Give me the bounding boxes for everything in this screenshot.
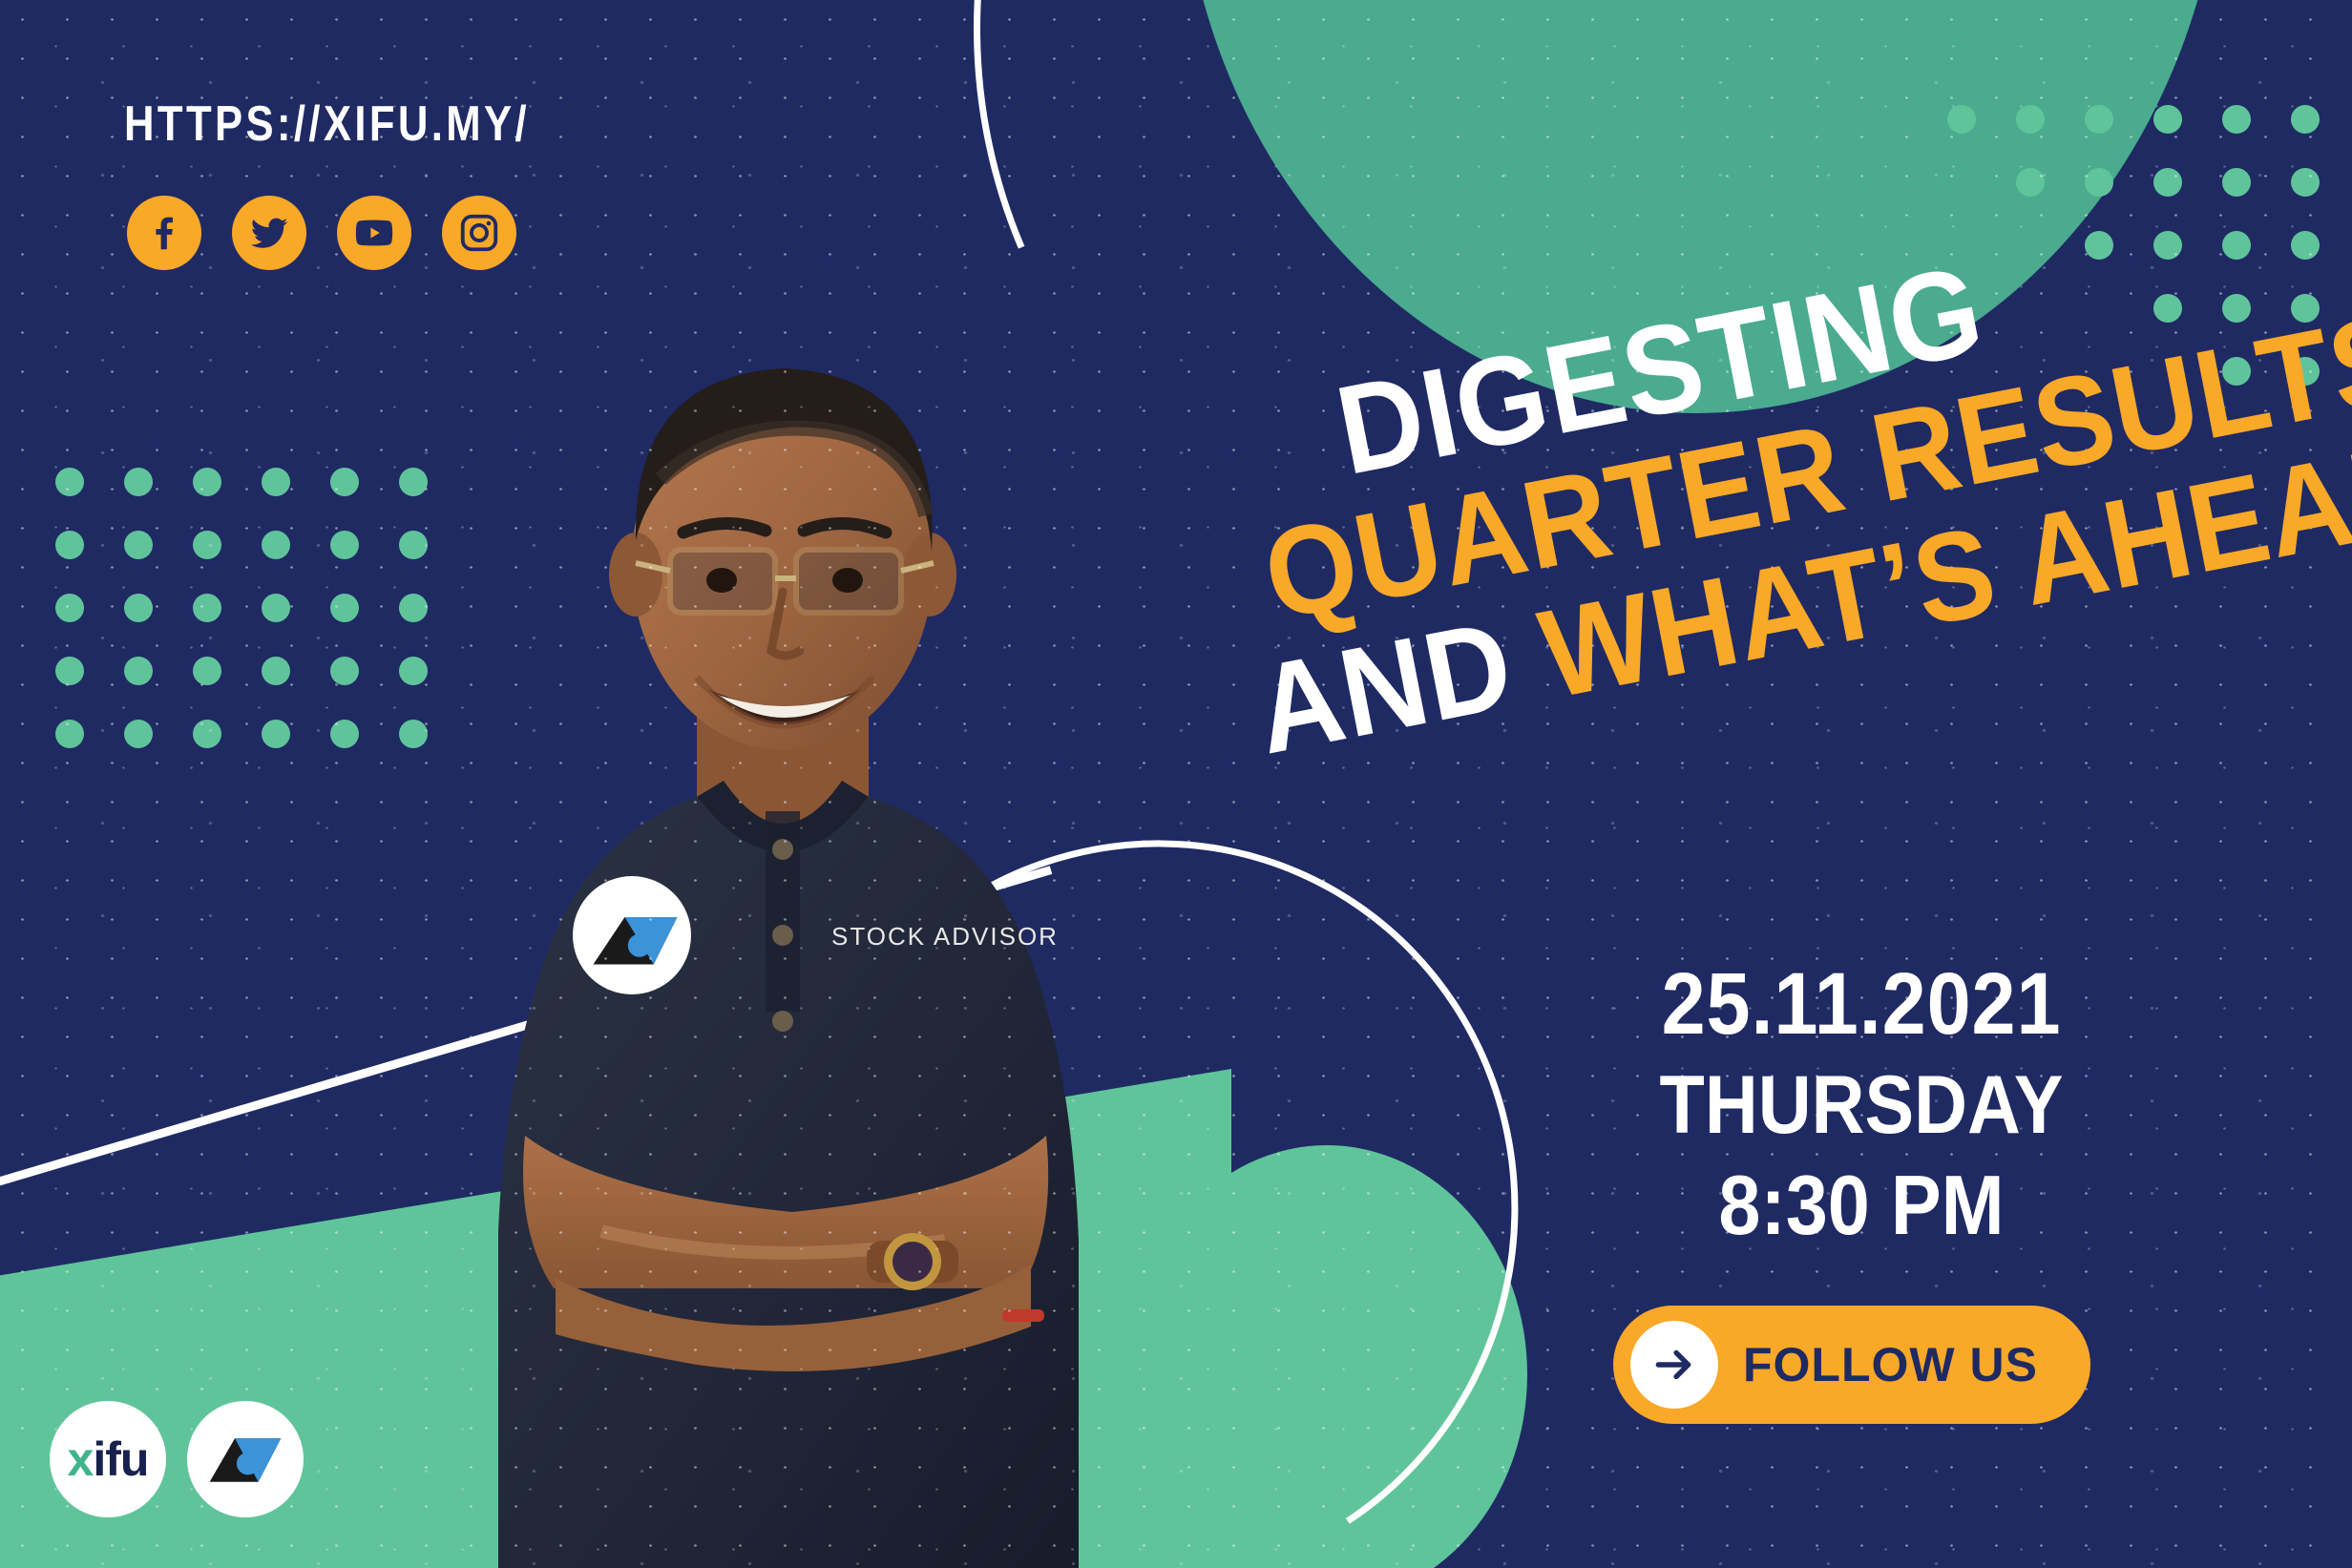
- decorative-dot: [124, 720, 153, 748]
- decorative-dot: [1947, 105, 1976, 134]
- event-date: 25.11.2021: [1647, 954, 2076, 1055]
- decorative-dot: [330, 720, 359, 748]
- decorative-dot: [124, 657, 153, 685]
- decorative-dot: [2291, 105, 2320, 134]
- decorative-dot: [2222, 105, 2251, 134]
- dot-grid-left: [55, 468, 468, 783]
- decorative-dot: [193, 468, 221, 496]
- decorative-dot: [262, 594, 290, 622]
- promo-banner: STOCK ADVISOR: [0, 0, 2352, 1568]
- decorative-dot: [55, 594, 84, 622]
- xifu-wordmark: xifu: [68, 1435, 149, 1483]
- event-datetime: 25.11.2021 Thursday 8:30 PM: [1623, 954, 2100, 1254]
- footer-logos: xifu: [50, 1401, 304, 1517]
- website-url[interactable]: HTTPS://XIFU.MY/: [124, 95, 530, 153]
- instagram-icon[interactable]: [442, 196, 516, 270]
- decorative-dot: [1947, 168, 1976, 197]
- decorative-dot: [124, 468, 153, 496]
- decorative-dot: [262, 468, 290, 496]
- stock-advisor-mark: [206, 1427, 284, 1492]
- decorative-dot: [330, 468, 359, 496]
- speaker-photo: STOCK ADVISOR: [410, 277, 1155, 1568]
- follow-us-label: FOLLOW US: [1743, 1337, 2038, 1392]
- decorative-dot: [2085, 168, 2113, 197]
- decorative-dot: [2153, 105, 2182, 134]
- decorative-dot: [262, 720, 290, 748]
- event-time: 8:30 PM: [1647, 1157, 2076, 1254]
- decorative-dot: [55, 531, 84, 559]
- follow-us-button[interactable]: FOLLOW US: [1613, 1306, 2090, 1424]
- decorative-dot: [2016, 168, 2045, 197]
- facebook-icon[interactable]: [127, 196, 201, 270]
- social-links: [127, 196, 516, 270]
- youtube-icon[interactable]: [337, 196, 411, 270]
- decorative-dot: [330, 531, 359, 559]
- decorative-dot: [124, 531, 153, 559]
- decorative-dot: [330, 657, 359, 685]
- decorative-dot: [2085, 105, 2113, 134]
- decorative-dot: [193, 594, 221, 622]
- decorative-dot: [262, 531, 290, 559]
- event-day: Thursday: [1647, 1058, 2076, 1153]
- decorative-dot: [124, 594, 153, 622]
- decorative-dot: [55, 720, 84, 748]
- xifu-x: x: [68, 1432, 94, 1486]
- decorative-dot: [55, 657, 84, 685]
- decorative-dot: [193, 531, 221, 559]
- decorative-dot: [193, 720, 221, 748]
- xifu-ifu: ifu: [93, 1432, 148, 1486]
- svg-text:STOCK ADVISOR: STOCK ADVISOR: [831, 922, 1059, 951]
- decorative-dot: [2222, 168, 2251, 197]
- decorative-dot: [2153, 168, 2182, 197]
- arrow-right-icon: [1630, 1321, 1718, 1409]
- decorative-dot: [2016, 105, 2045, 134]
- decorative-dot: [262, 657, 290, 685]
- decorative-dot: [193, 657, 221, 685]
- decorative-dot: [330, 594, 359, 622]
- decorative-dot: [55, 468, 84, 496]
- stock-advisor-logo[interactable]: [187, 1401, 304, 1517]
- twitter-icon[interactable]: [232, 196, 306, 270]
- xifu-logo[interactable]: xifu: [50, 1401, 166, 1517]
